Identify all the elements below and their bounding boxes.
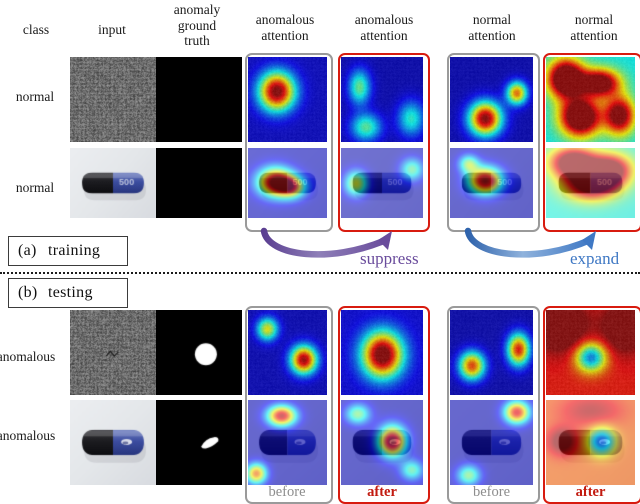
header-nab-line-2: attention xyxy=(450,28,534,44)
attn-norm-before-anomalous-texture xyxy=(450,310,533,395)
header-normal-attention-before: normal attention xyxy=(450,12,534,43)
input-image-normal-texture xyxy=(70,57,156,142)
caption-normal-after: after xyxy=(543,484,638,501)
attn-anom-after-anomalous-texture xyxy=(341,310,423,395)
ground-truth-normal-texture xyxy=(156,57,242,142)
header-anomalous-attention-before: anomalous attention xyxy=(242,12,328,43)
header-input: input xyxy=(78,22,146,38)
attn-anom-before-anomalous-texture xyxy=(248,310,327,395)
caption-anomalous-after: after xyxy=(338,484,426,501)
suppress-arrowhead-icon xyxy=(378,231,392,250)
header-gt-line-3: truth xyxy=(158,33,236,49)
attn-anom-after-normal-pill xyxy=(341,148,423,218)
header-normal-attention-after: normal attention xyxy=(552,12,636,43)
phase-testing-label: testing xyxy=(48,284,93,302)
header-input-line-1: input xyxy=(78,22,146,38)
header-anomaly-ground-truth: anomaly ground truth xyxy=(158,2,236,49)
training-testing-divider xyxy=(0,272,640,274)
attn-anom-before-anomalous-pill xyxy=(248,400,327,485)
header-aab-line-2: attention xyxy=(242,28,328,44)
phase-training-tag: (a) xyxy=(18,242,48,260)
row-label-anomalous-1: anomalous xyxy=(0,349,66,365)
caption-anomalous-before: before xyxy=(245,484,329,501)
caption-normal-before: before xyxy=(447,484,536,501)
arrow-caption-suppress: suppress xyxy=(360,249,419,269)
header-nab-line-1: normal xyxy=(450,12,534,28)
row-label-normal-1: normal xyxy=(2,89,68,105)
attn-norm-after-anomalous-pill xyxy=(546,400,635,485)
header-naa-line-2: attention xyxy=(552,28,636,44)
row-label-normal-2: normal xyxy=(2,180,68,196)
header-anomalous-attention-after: anomalous attention xyxy=(341,12,427,43)
header-naa-line-1: normal xyxy=(552,12,636,28)
input-image-anomalous-texture xyxy=(70,310,156,395)
attn-norm-after-normal-pill xyxy=(546,148,635,218)
attn-anom-after-normal-texture xyxy=(341,57,423,142)
phase-box-testing[interactable]: (b) testing xyxy=(8,278,128,308)
arrow-caption-expand: expand xyxy=(570,249,619,269)
phase-testing-tag: (b) xyxy=(18,284,48,302)
phase-training-label: training xyxy=(48,242,100,260)
attn-norm-before-normal-texture xyxy=(450,57,533,142)
header-gt-line-1: anomaly xyxy=(158,2,236,18)
expand-arrowhead-icon xyxy=(582,231,596,250)
input-image-normal-pill xyxy=(70,148,156,218)
header-aaa-line-1: anomalous xyxy=(341,12,427,28)
attn-norm-before-normal-pill xyxy=(450,148,533,218)
header-aaa-line-2: attention xyxy=(341,28,427,44)
row-label-anomalous-2: anomalous xyxy=(0,428,66,444)
ground-truth-anomalous-pill xyxy=(156,400,242,485)
ground-truth-normal-pill xyxy=(156,148,242,218)
header-class: class xyxy=(6,22,66,38)
header-aab-line-1: anomalous xyxy=(242,12,328,28)
attn-norm-after-normal-texture xyxy=(546,57,635,142)
header-gt-line-2: ground xyxy=(158,18,236,34)
phase-box-training[interactable]: (a) training xyxy=(8,236,128,266)
figure-root: class input anomaly ground truth anomalo… xyxy=(0,0,640,504)
attn-norm-before-anomalous-pill xyxy=(450,400,533,485)
header-class-line-1: class xyxy=(6,22,66,38)
attn-anom-before-normal-texture xyxy=(248,57,327,142)
attn-norm-after-anomalous-texture xyxy=(546,310,635,395)
ground-truth-anomalous-texture xyxy=(156,310,242,395)
input-image-anomalous-pill xyxy=(70,400,156,485)
attn-anom-before-normal-pill xyxy=(248,148,327,218)
attn-anom-after-anomalous-pill xyxy=(341,400,423,485)
